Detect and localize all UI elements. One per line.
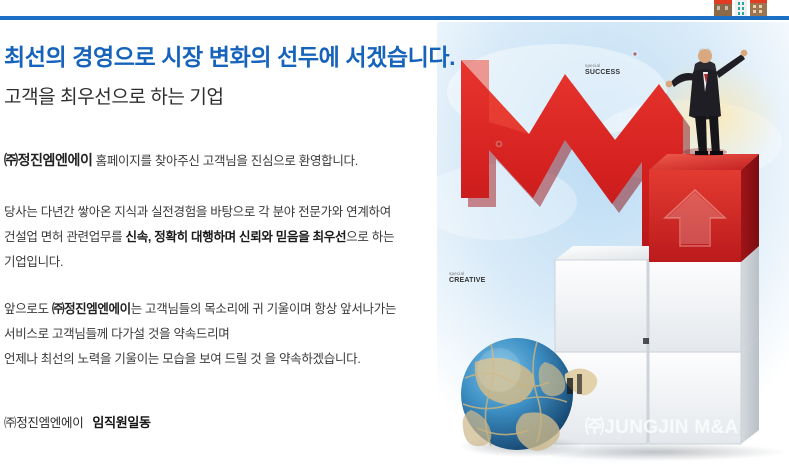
badge-success-main: SUCCESS <box>585 69 620 76</box>
p1-l2-a: 건설업 면허 관련업무를 <box>4 230 126 244</box>
badge-success: special SUCCESS <box>585 64 620 76</box>
welcome-text: 홈페이지를 찾아주신 고객님을 진심으로 환영합니다. <box>92 154 357 168</box>
page-headline: 최선의 경영으로 시장 변화의 선두에 서겠습니다. <box>4 38 524 72</box>
page-subheadline: 고객을 최우선으로 하는 기업 <box>4 82 524 109</box>
building-middle-icon <box>735 0 747 16</box>
white-cube-stack <box>555 246 759 444</box>
p2-l1-a: 앞으로도 <box>4 302 52 316</box>
greeting-body: ㈜정진엠엔에이 홈페이지를 찾아주신 고객님을 진심으로 환영합니다. 당사는 … <box>4 148 474 394</box>
building-right-icon <box>750 0 767 16</box>
cube-bottom-middle <box>649 338 759 444</box>
page-root: ㈜JUNGJIN M&A special CREATIVE special SU… <box>0 0 789 464</box>
p2-company-inline: ㈜정진엠엔에이 <box>52 302 131 316</box>
p1-l2-emphasis: 신속, 정확히 대행하며 신뢰와 믿음을 최우선 <box>126 230 347 244</box>
building-icons-group <box>669 0 789 16</box>
red-cube-with-arrow <box>649 154 759 262</box>
paragraph-one-line-3: 기업입니다. <box>4 250 474 275</box>
signature-company: ㈜정진엠엔에이 <box>4 416 83 430</box>
paragraph-two-line-2: 서비스로 고객님들께 다가설 것을 약속드리며 <box>4 322 474 347</box>
welcome-paragraph: ㈜정진엠엔에이 홈페이지를 찾아주신 고객님을 진심으로 환영합니다. <box>4 148 474 174</box>
paragraph-one-line-1: 당사는 다년간 쌓아온 지식과 실전경험을 바탕으로 각 분야 전문가와 연계하… <box>4 200 474 225</box>
company-name-inline: ㈜정진엠엔에이 <box>4 152 92 168</box>
paragraph-one-line-2: 건설업 면허 관련업무를 신속, 정확히 대행하며 신뢰와 믿음을 최우선으로 … <box>4 225 474 250</box>
p1-l2-b: 으로 하는 <box>346 230 394 244</box>
paragraph-one: 당사는 다년간 쌓아온 지식과 실전경험을 바탕으로 각 분야 전문가와 연계하… <box>4 200 474 275</box>
building-left-icon <box>714 0 732 16</box>
paragraph-two-line-1: 앞으로도 ㈜정진엠엔에이는 고객님들의 목소리에 귀 기울이며 항상 앞서나가는 <box>4 297 474 322</box>
signature-line: ㈜정진엠엔에이임직원일동 <box>4 412 151 431</box>
signature-name: 임직원일동 <box>92 415 150 430</box>
paragraph-two: 앞으로도 ㈜정진엠엔에이는 고객님들의 목소리에 귀 기울이며 항상 앞서나가는… <box>4 297 474 372</box>
p2-l1-b: 는 고객님들의 목소리에 귀 기울이며 항상 앞서나가는 <box>131 302 396 316</box>
cube-middle-left <box>555 246 665 352</box>
top-divider-rule <box>0 16 789 20</box>
paragraph-two-line-3: 언제나 최선의 노력을 기울이는 모습을 보여 드릴 것 을 약속하겠습니다. <box>4 347 474 372</box>
